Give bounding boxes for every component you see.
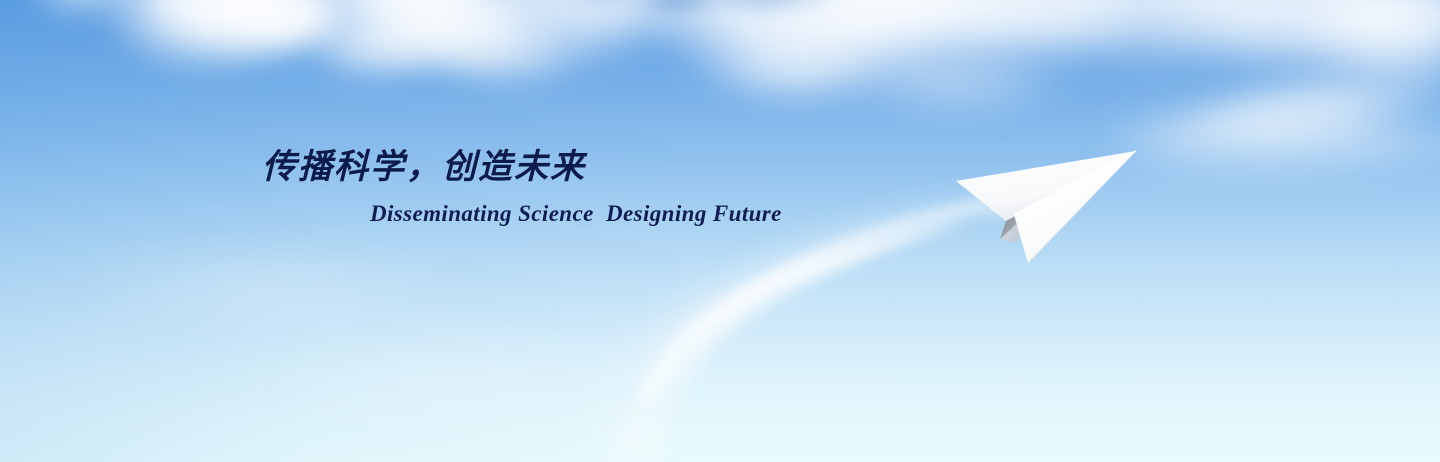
cirrus-cloud	[1240, 120, 1440, 166]
cloud	[560, 0, 800, 48]
contrail-layer	[0, 0, 1440, 462]
paper-airplane-icon	[950, 143, 1150, 271]
contrail-swoosh	[0, 0, 1440, 462]
cloud	[360, 0, 565, 80]
cloud	[648, 0, 948, 92]
sky-gap	[690, 0, 840, 16]
headline-block: 传播科学，创造未来 Disseminating Science Designin…	[262, 146, 882, 227]
cloud	[1010, 0, 1310, 72]
cloud	[22, 0, 142, 22]
cloud	[430, 22, 590, 88]
cloud	[95, 0, 325, 76]
cloud	[468, 0, 683, 70]
sky-banner: 传播科学，创造未来 Disseminating Science Designin…	[0, 0, 1440, 462]
cloud	[180, 0, 365, 66]
cloud	[288, 0, 538, 72]
sky-haze	[0, 0, 1440, 462]
cloud	[238, 0, 348, 46]
cloud-layer	[0, 0, 1440, 462]
paper-airplane	[950, 143, 1150, 271]
sky-gap	[628, 0, 724, 16]
cloud	[1290, 0, 1440, 80]
cloud	[300, 10, 450, 82]
cirrus-cloud	[1300, 40, 1440, 82]
cloud	[770, 0, 1050, 80]
cirrus-cloud	[1178, 54, 1440, 148]
sky-gap	[560, 0, 650, 8]
cirrus-cloud	[1120, 140, 1420, 180]
headline-english: Disseminating Science Designing Future	[370, 200, 882, 228]
cloud	[1150, 0, 1440, 80]
headline-chinese: 传播科学，创造未来	[262, 146, 882, 190]
haze-streak	[200, 330, 720, 420]
haze-streak	[60, 250, 480, 320]
cloud	[700, 30, 900, 104]
contrail-tail	[606, 418, 660, 462]
cloud	[905, 0, 1155, 70]
cloud	[840, 46, 1070, 116]
